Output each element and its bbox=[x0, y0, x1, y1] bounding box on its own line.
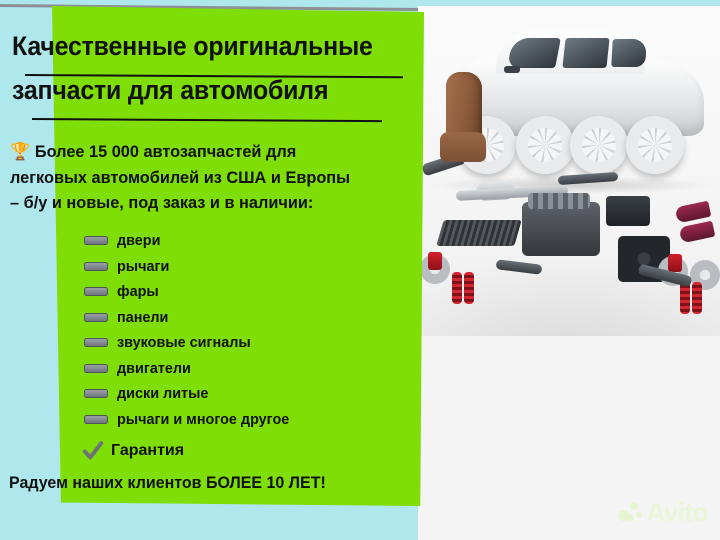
wheel-spokes bbox=[638, 128, 672, 162]
trophy-icon: 🏆 bbox=[10, 142, 30, 161]
list-item: рычаги и многое другое bbox=[84, 407, 414, 433]
headline-underline-2 bbox=[32, 118, 382, 123]
guarantee-label: Гарантия bbox=[111, 442, 184, 460]
list-item: двигатели bbox=[84, 356, 414, 382]
coil-spring-4 bbox=[692, 282, 702, 314]
check-mark-icon bbox=[82, 440, 104, 462]
list-item-label: фары bbox=[117, 283, 159, 300]
dash-marker-icon bbox=[84, 338, 108, 347]
subheading-block: 🏆 Более 15 000 автозапчастей для легковы… bbox=[10, 139, 404, 216]
headline-line-1: Качественные оригинальные bbox=[12, 24, 388, 68]
subheading-line-2: легковых автомобилей из США и Европы bbox=[10, 165, 404, 191]
battery-part bbox=[606, 196, 650, 226]
subheading-line-3: – б/у и новые, под заказ и в наличии: bbox=[10, 190, 404, 216]
coil-spring-1 bbox=[452, 272, 462, 304]
text-content-column: Качественные оригинальные запчасти для а… bbox=[0, 0, 430, 540]
list-item: фары bbox=[84, 279, 414, 305]
product-photo-panel bbox=[418, 6, 720, 540]
car-seat-part bbox=[440, 72, 484, 170]
parts-list: двери рычаги фары панели звуковые сигнал… bbox=[84, 228, 414, 432]
wheel-4 bbox=[626, 116, 684, 174]
brake-caliper-1 bbox=[668, 254, 682, 272]
car-window-front bbox=[507, 38, 561, 68]
drive-shaft-part bbox=[496, 259, 543, 275]
seat-cushion bbox=[440, 132, 486, 162]
dash-marker-icon bbox=[84, 389, 108, 398]
avito-watermark: Avito bbox=[618, 497, 708, 528]
list-item-label: двигатели bbox=[117, 360, 191, 377]
dash-marker-icon bbox=[84, 236, 108, 245]
list-item: панели bbox=[84, 305, 414, 331]
car-side-mirror bbox=[504, 66, 520, 73]
list-item-label: звуковые сигналы bbox=[117, 334, 251, 351]
footer-tagline: Радуем наших клиентов БОЛЕЕ 10 ЛЕТ! bbox=[9, 474, 326, 493]
wheel-2 bbox=[516, 116, 574, 174]
engine-part bbox=[522, 202, 600, 256]
wheel-3 bbox=[570, 116, 628, 174]
list-item: диски литые bbox=[84, 381, 414, 407]
page-title: Качественные оригинальные запчасти для а… bbox=[12, 24, 388, 112]
avito-wordmark: Avito bbox=[646, 497, 708, 528]
list-item-label: диски литые bbox=[117, 385, 208, 402]
dash-marker-icon bbox=[84, 415, 108, 424]
list-item-label: рычаги bbox=[117, 258, 169, 275]
list-item: двери bbox=[84, 228, 414, 254]
wheel-spokes bbox=[528, 128, 562, 162]
dash-marker-icon bbox=[84, 364, 108, 373]
list-item-label: двери bbox=[117, 232, 160, 249]
dash-marker-icon bbox=[84, 313, 108, 322]
coil-spring-2 bbox=[464, 272, 474, 304]
car-parts-photo bbox=[418, 6, 720, 336]
dash-marker-icon bbox=[84, 287, 108, 296]
radiator-part bbox=[436, 220, 521, 246]
guarantee-row: Гарантия bbox=[82, 440, 184, 462]
dash-marker-icon bbox=[84, 262, 108, 271]
coil-spring-3 bbox=[680, 282, 690, 314]
avito-logo-icon bbox=[618, 502, 642, 524]
taillight-part-1 bbox=[675, 201, 712, 224]
car-window-middle bbox=[562, 38, 609, 68]
list-item-label: рычаги и многое другое bbox=[117, 411, 289, 428]
advertisement-banner: Качественные оригинальные запчасти для а… bbox=[0, 0, 720, 540]
taillight-part-2 bbox=[679, 221, 716, 244]
subheading-line-1: 🏆 Более 15 000 автозапчастей для bbox=[10, 139, 404, 165]
list-item-label: панели bbox=[117, 309, 168, 326]
list-item: рычаги bbox=[84, 254, 414, 280]
subheading-line-1-text: Более 15 000 автозапчастей для bbox=[35, 142, 296, 161]
car-window-rear bbox=[611, 39, 646, 67]
seat-backrest bbox=[446, 72, 482, 138]
list-item: звуковые сигналы bbox=[84, 330, 414, 356]
wheel-spokes bbox=[582, 128, 616, 162]
brake-caliper-2 bbox=[428, 252, 442, 270]
